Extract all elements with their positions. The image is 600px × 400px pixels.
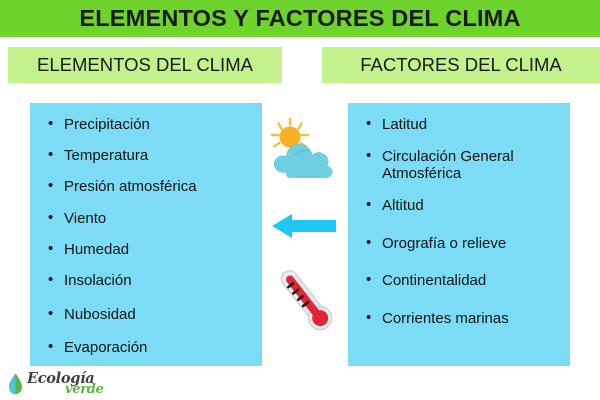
list-item: Presión atmosférica <box>48 178 254 196</box>
list-item: Humedad <box>48 241 254 259</box>
left-arrow-icon <box>270 209 340 243</box>
column-heading-factores-label: FACTORES DEL CLIMA <box>360 56 562 75</box>
list-item: Precipitación <box>48 116 254 134</box>
list-item: Temperatura <box>48 147 254 165</box>
list-item: Continentalidad <box>366 272 562 290</box>
column-heading-factores: FACTORES DEL CLIMA <box>322 47 600 83</box>
brand-name-secondary: verde <box>65 383 104 396</box>
list-item: Nubosidad <box>48 306 254 324</box>
panel-factores: Latitud Circulación General Atmosférica … <box>348 103 570 366</box>
list-item: Altitud <box>366 197 562 215</box>
list-factores: Latitud Circulación General Atmosférica … <box>348 103 570 328</box>
list-item: Viento <box>48 210 254 228</box>
brand-logo-wordmark: Ecología verde <box>27 372 131 396</box>
header-bar: ELEMENTOS Y FACTORES DEL CLIMA <box>0 0 600 37</box>
list-item: Corrientes marinas <box>366 310 562 328</box>
list-item: Circulación General Atmosférica <box>366 148 562 183</box>
column-heading-elementos: ELEMENTOS DEL CLIMA <box>8 47 282 83</box>
center-icon-column <box>262 103 348 366</box>
page-title: ELEMENTOS Y FACTORES DEL CLIMA <box>79 7 520 31</box>
column-heading-elementos-label: ELEMENTOS DEL CLIMA <box>37 56 253 75</box>
list-item: Insolación <box>48 272 254 290</box>
thermometer-icon <box>276 261 336 339</box>
sun-cloud-icon <box>270 118 340 180</box>
panel-elementos: Precipitación Temperatura Presión atmosf… <box>30 103 262 366</box>
list-item: Latitud <box>366 116 562 134</box>
brand-logo[interactable]: Ecología verde <box>8 371 138 397</box>
list-item: Orografía o relieve <box>366 235 562 253</box>
list-item: Evaporación <box>48 339 254 357</box>
leaf-droplet-icon <box>8 373 23 395</box>
list-elementos: Precipitación Temperatura Presión atmosf… <box>30 103 262 357</box>
